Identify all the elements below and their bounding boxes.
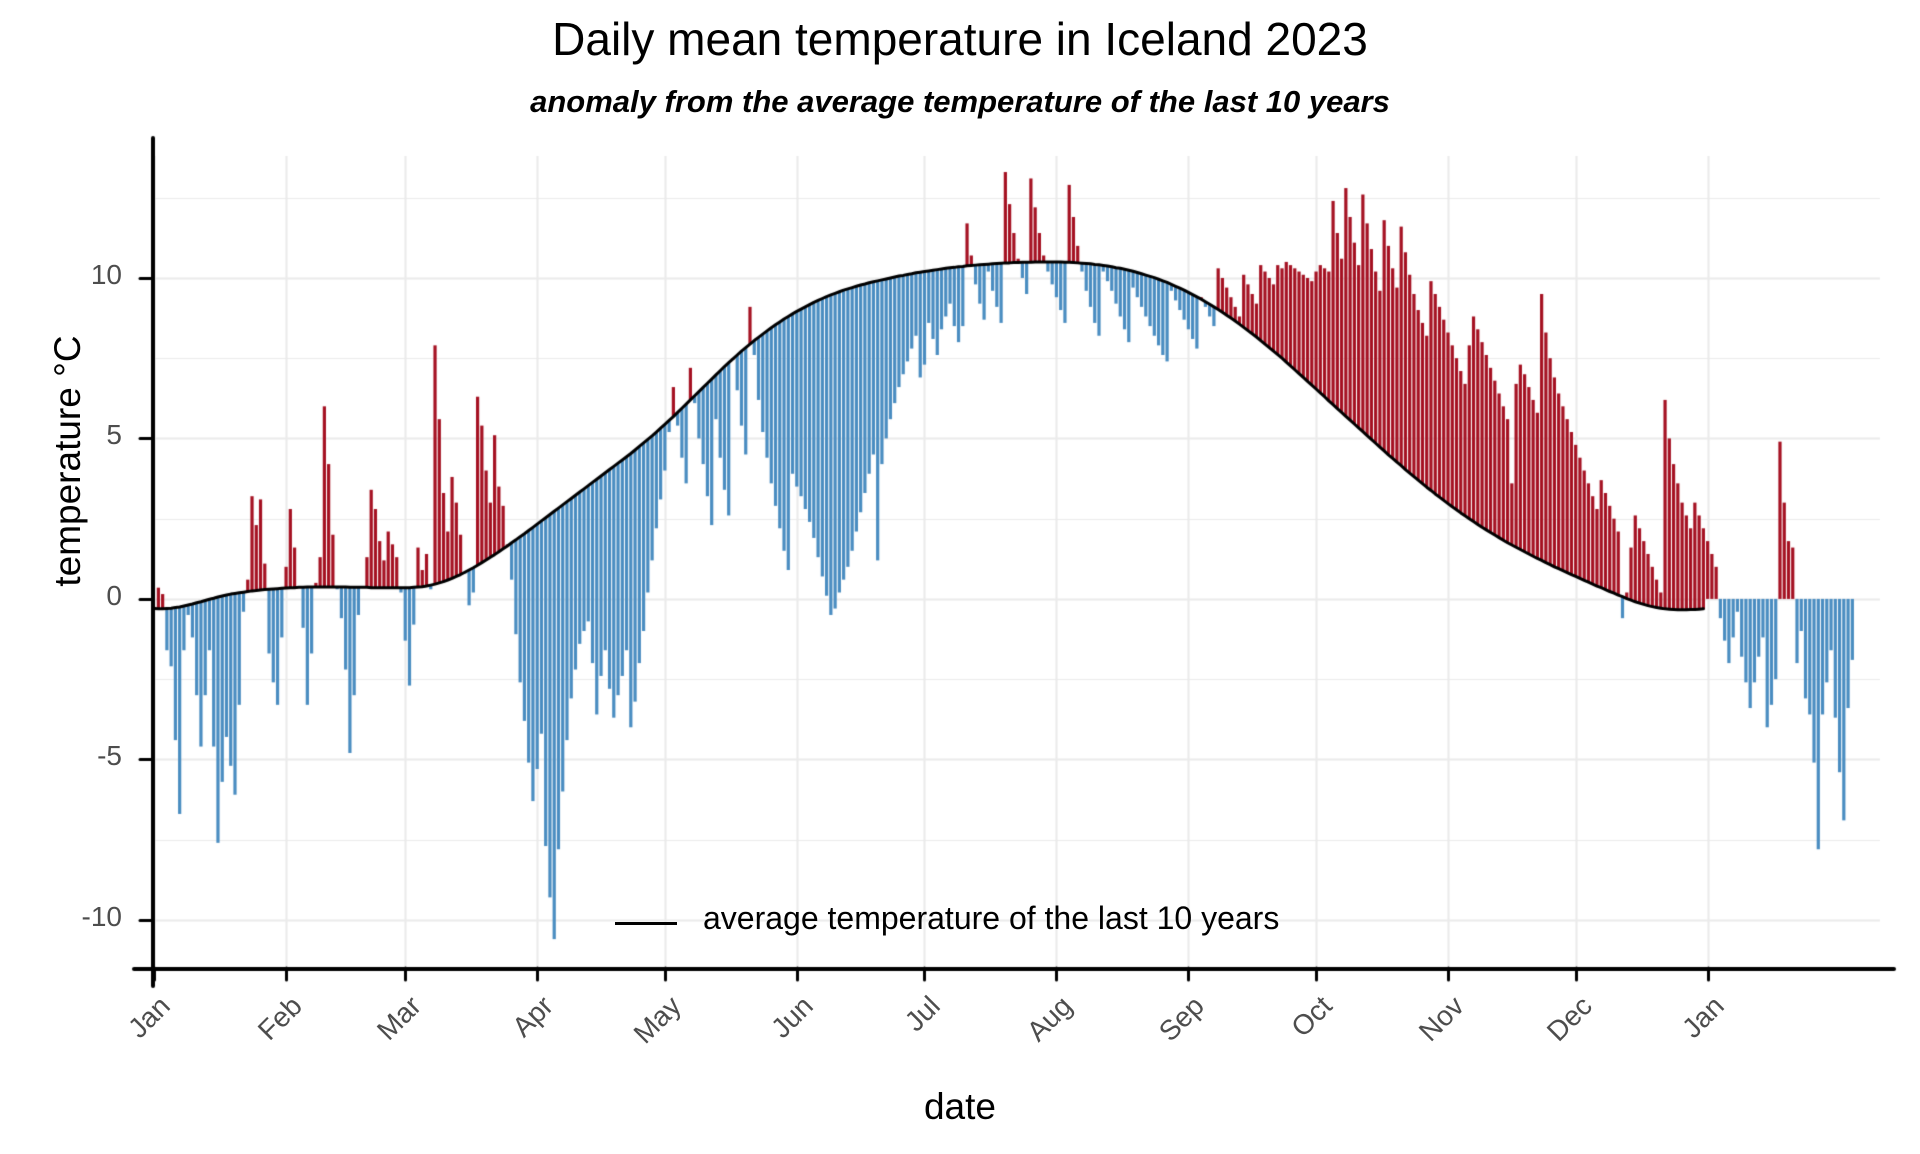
x-axis-title: date xyxy=(0,1086,1920,1128)
legend-label: average temperature of the last 10 years xyxy=(703,900,1279,937)
plot-canvas xyxy=(0,0,1920,1154)
chart-figure: Daily mean temperature in Iceland 2023 a… xyxy=(0,0,1920,1154)
legend-line-swatch xyxy=(615,922,677,925)
y-axis-title: temperature °C xyxy=(47,161,89,761)
y-axis-tick--10: -10 xyxy=(2,901,122,933)
